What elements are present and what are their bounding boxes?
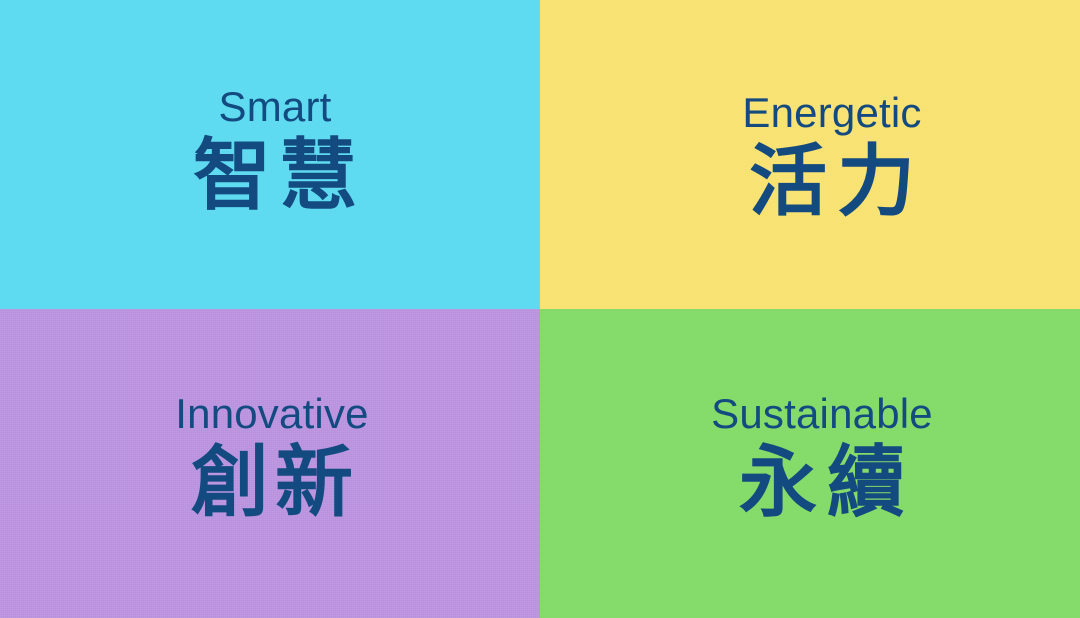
chinese-label-innovative: 創新: [4, 442, 540, 523]
english-label-smart: Smart: [10, 86, 540, 128]
english-label-energetic: Energetic: [584, 92, 1080, 134]
value-text-block-smart: Smart 智慧: [0, 86, 540, 216]
value-text-block-energetic: Energetic 活力: [540, 92, 1080, 222]
chinese-label-sustainable: 永續: [564, 442, 1080, 523]
quadrant-sustainable: Sustainable 永續: [540, 309, 1080, 618]
quadrant-grid: Smart 智慧 Energetic 活力 Innovative 創新 Sust…: [0, 0, 1080, 618]
quadrant-innovative: Innovative 創新: [0, 309, 540, 618]
chinese-label-energetic: 活力: [584, 141, 1080, 222]
value-text-block-innovative: Innovative 創新: [0, 393, 540, 523]
quadrant-energetic: Energetic 活力: [540, 0, 1080, 309]
english-label-innovative: Innovative: [4, 393, 540, 435]
chinese-label-smart: 智慧: [10, 135, 540, 216]
quadrant-smart: Smart 智慧: [0, 0, 540, 309]
value-text-block-sustainable: Sustainable 永續: [540, 393, 1080, 523]
english-label-sustainable: Sustainable: [564, 393, 1080, 435]
brand-values-graphic: Smart 智慧 Energetic 活力 Innovative 創新 Sust…: [0, 0, 1080, 618]
